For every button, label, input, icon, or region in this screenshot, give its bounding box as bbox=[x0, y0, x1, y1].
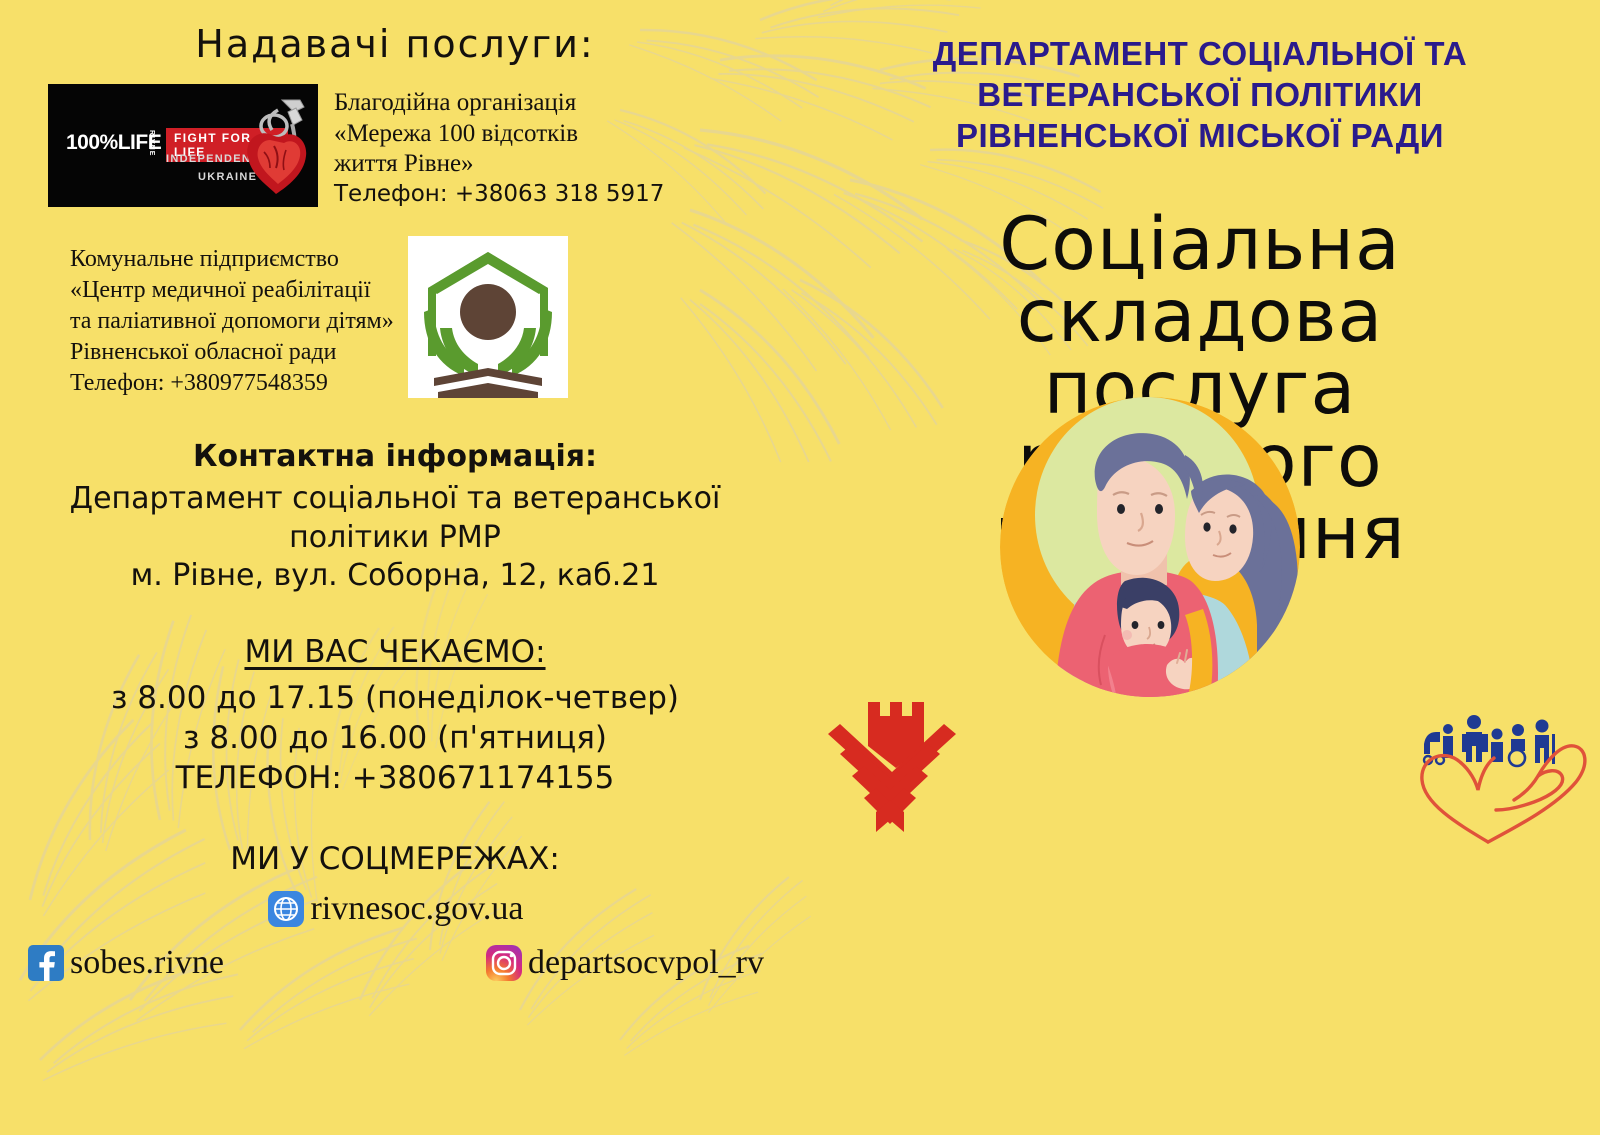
provider-2-line3: та паліативної допомоги дітям» bbox=[70, 306, 394, 337]
hours-phone: ТЕЛЕФОН: +380671174155 bbox=[18, 758, 772, 798]
life-city-text: RIVNE bbox=[148, 130, 155, 156]
left-column: Надавачі послуги: 100%LIFE RIVNE FIGHT F… bbox=[0, 0, 790, 1135]
instagram-text: departsocvpol_rv bbox=[528, 944, 764, 982]
life-brand-text: 100%LIFE bbox=[66, 131, 161, 155]
globe-icon bbox=[266, 889, 306, 929]
contact-line-2: політики РМР bbox=[18, 519, 772, 557]
provider-1-phone: Телефон: +38063 318 5917 bbox=[334, 180, 664, 208]
provider-2-text: Комунальне підприємство «Центр медичної … bbox=[70, 236, 408, 400]
provider-2-row: Комунальне підприємство «Центр медичної … bbox=[0, 236, 790, 400]
heart-hand-family-care-icon bbox=[1400, 690, 1600, 850]
provider-2-line1: Комунальне підприємство bbox=[70, 244, 394, 275]
house-hands-child-icon bbox=[408, 236, 568, 398]
hours-friday: з 8.00 до 16.00 (п'ятниця) bbox=[18, 718, 772, 758]
heart-grenade-icon bbox=[234, 90, 312, 202]
department-header: ДЕПАРТАМЕНТ СОЦІАЛЬНОЇ ТА ВЕТЕРАНСЬКОЇ П… bbox=[800, 0, 1600, 157]
title-line-1: Соціальна bbox=[800, 209, 1600, 281]
social-block: МИ У СОЦМЕРЕЖАХ: rivnesoc.gov.ua bbox=[0, 841, 790, 983]
department-line-1: ДЕПАРТАМЕНТ СОЦІАЛЬНОЇ ТА bbox=[800, 34, 1600, 75]
right-column: ДЕПАРТАМЕНТ СОЦІАЛЬНОЇ ТА ВЕТЕРАНСЬКОЇ П… bbox=[800, 0, 1600, 1135]
rivne-city-emblem-icon bbox=[810, 680, 970, 840]
hours-title: МИ ВАС ЧЕКАЄМО: bbox=[18, 634, 772, 670]
instagram-icon bbox=[484, 943, 524, 983]
hours-block: МИ ВАС ЧЕКАЄМО: з 8.00 до 17.15 (понеділ… bbox=[0, 634, 790, 799]
department-line-2: ВЕТЕРАНСЬКОЇ ПОЛІТИКИ bbox=[800, 75, 1600, 116]
provider-1-line2: «Мережа 100 відсотків bbox=[334, 119, 664, 150]
website-link[interactable]: rivnesoc.gov.ua bbox=[266, 889, 523, 929]
instagram-link[interactable]: departsocvpol_rv bbox=[484, 943, 764, 983]
provider-1-line3: життя Рівне» bbox=[334, 149, 664, 180]
contact-title: Контактна інформація: bbox=[18, 439, 772, 474]
social-title: МИ У СОЦМЕРЕЖАХ: bbox=[0, 841, 790, 877]
family-figures-icon bbox=[1424, 715, 1555, 766]
poster-root: Надавачі послуги: 100%LIFE RIVNE FIGHT F… bbox=[0, 0, 1600, 1135]
contact-block: Контактна інформація: Департамент соціал… bbox=[0, 439, 790, 595]
provider-2-line4: Рівненської обласної ради bbox=[70, 337, 394, 368]
provider-1-row: 100%LIFE RIVNE FIGHT FOR LIFE INDEPENDEN… bbox=[0, 84, 790, 208]
facebook-text: sobes.rivne bbox=[70, 944, 224, 982]
providers-heading: Надавачі послуги: bbox=[0, 22, 790, 66]
med-center-logo bbox=[408, 236, 568, 398]
contact-line-1: Департамент соціальної та ветеранської bbox=[18, 480, 772, 518]
provider-1-line1: Благодійна організація bbox=[334, 88, 664, 119]
facebook-link[interactable]: sobes.rivne bbox=[26, 943, 224, 983]
hours-weekday: з 8.00 до 17.15 (понеділок-четвер) bbox=[18, 678, 772, 718]
family-portrait-illustration bbox=[955, 395, 1345, 700]
contact-address: м. Рівне, вул. Соборна, 12, каб.21 bbox=[18, 557, 772, 595]
social-accounts-row: sobes.rivne bbox=[0, 943, 790, 983]
provider-1-text: Благодійна організація «Мережа 100 відсо… bbox=[318, 84, 664, 208]
department-line-3: РІВНЕНСЬКОЇ МІСЬКОЇ РАДИ bbox=[800, 116, 1600, 157]
website-text: rivnesoc.gov.ua bbox=[310, 890, 523, 928]
facebook-icon bbox=[26, 943, 66, 983]
title-line-2: складова bbox=[800, 281, 1600, 353]
provider-2-phone: Телефон: +380977548359 bbox=[70, 368, 394, 399]
life-100-logo: 100%LIFE RIVNE FIGHT FOR LIFE INDEPENDEN… bbox=[48, 84, 318, 207]
provider-2-line2: «Центр медичної реабілітації bbox=[70, 275, 394, 306]
website-row: rivnesoc.gov.ua bbox=[0, 889, 790, 929]
